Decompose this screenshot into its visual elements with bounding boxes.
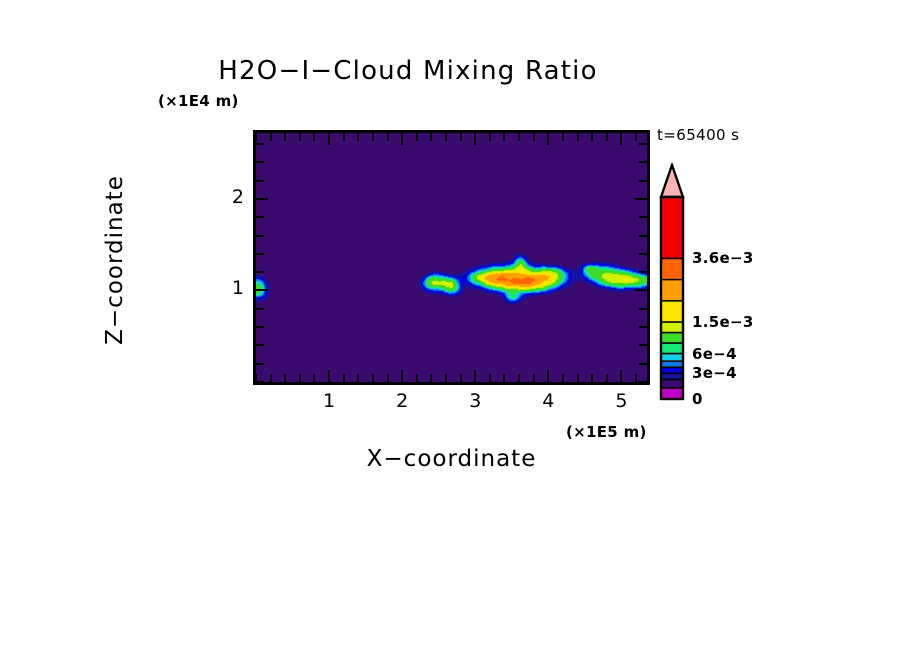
x-minor-tick-top — [533, 133, 535, 141]
figure-root: H2O−I−Cloud Mixing Ratio (×1E4 m) 123451… — [0, 0, 904, 654]
x-minor-tick — [533, 374, 535, 382]
x-minor-tick — [387, 374, 389, 382]
y-minor-tick-right — [639, 143, 647, 145]
y-minor-tick-right — [639, 216, 647, 218]
x-major-tick — [328, 370, 330, 382]
x-minor-tick-top — [255, 133, 257, 141]
colorbar-band — [661, 301, 683, 323]
colorbar-tick-label: 3e−4 — [692, 364, 737, 382]
y-minor-tick — [256, 235, 264, 237]
x-minor-tick-top — [635, 133, 637, 141]
x-tick-label: 5 — [601, 390, 641, 412]
x-minor-tick — [489, 374, 491, 382]
x-minor-tick-top — [445, 133, 447, 141]
colorbar-tick-label: 6e−4 — [692, 345, 737, 363]
y-major-tick-right — [635, 198, 647, 200]
x-major-tick — [620, 370, 622, 382]
x-minor-tick-top — [460, 133, 462, 141]
y-minor-tick — [256, 180, 264, 182]
x-tick-label: 3 — [455, 390, 495, 412]
x-minor-tick — [343, 374, 345, 382]
y-minor-tick-right — [639, 381, 647, 383]
x-minor-tick — [357, 374, 359, 382]
y-major-tick-right — [635, 289, 647, 291]
x-minor-tick-top — [284, 133, 286, 141]
y-minor-tick-right — [639, 235, 647, 237]
x-minor-tick — [503, 374, 505, 382]
x-major-tick-top — [474, 133, 476, 145]
x-minor-tick-top — [503, 133, 505, 141]
colorbar-band — [661, 343, 683, 354]
x-minor-tick — [313, 374, 315, 382]
x-minor-tick-top — [343, 133, 345, 141]
y-minor-tick-right — [639, 271, 647, 273]
y-tick-label: 1 — [214, 277, 244, 299]
colorbar-band — [661, 333, 683, 344]
colorbar-over-arrow — [661, 165, 683, 197]
y-minor-tick-right — [639, 253, 647, 255]
x-minor-tick-top — [299, 133, 301, 141]
x-minor-tick-top — [357, 133, 359, 141]
x-major-tick-top — [328, 133, 330, 145]
x-minor-tick — [445, 374, 447, 382]
y-minor-tick — [256, 363, 264, 365]
y-minor-tick-right — [639, 161, 647, 163]
colorbar — [658, 163, 692, 403]
chart-title-text: H2O−I−Cloud Mixing Ratio — [218, 56, 597, 86]
x-major-tick-top — [401, 133, 403, 145]
colorbar-tick-label: 3.6e−3 — [692, 249, 754, 267]
y-tick-label: 2 — [214, 186, 244, 208]
y-minor-tick — [256, 381, 264, 383]
y-minor-tick — [256, 143, 264, 145]
colorbar-band — [661, 322, 683, 333]
x-minor-tick-top — [577, 133, 579, 141]
y-minor-tick-right — [639, 308, 647, 310]
colorbar-tick-label: 0 — [692, 390, 703, 408]
y-minor-tick-right — [639, 180, 647, 182]
x-minor-tick-top — [313, 133, 315, 141]
x-minor-tick-top — [591, 133, 593, 141]
x-minor-tick — [591, 374, 593, 382]
x-minor-tick-top — [372, 133, 374, 141]
x-axis-title: X−coordinate — [253, 446, 650, 472]
y-minor-tick-right — [639, 363, 647, 365]
x-minor-tick — [372, 374, 374, 382]
x-major-tick — [474, 370, 476, 382]
y-minor-tick — [256, 216, 264, 218]
x-minor-tick — [635, 374, 637, 382]
y-axis-title: Z−coordinate — [102, 132, 128, 388]
x-minor-tick — [416, 374, 418, 382]
colorbar-svg — [658, 163, 692, 403]
colorbar-tick-label: 1.5e−3 — [692, 313, 754, 331]
x-tick-label: 4 — [528, 390, 568, 412]
x-minor-tick — [460, 374, 462, 382]
x-minor-tick-top — [387, 133, 389, 141]
x-unit-label: (×1E5 m) — [566, 423, 647, 441]
page-title: H2O−I−Cloud Mixing Ratio — [0, 56, 904, 86]
y-minor-tick — [256, 271, 264, 273]
x-minor-tick — [606, 374, 608, 382]
y-minor-tick-right — [639, 344, 647, 346]
x-major-tick — [547, 370, 549, 382]
y-minor-tick-right — [639, 326, 647, 328]
x-major-tick — [401, 370, 403, 382]
y-unit-label: (×1E4 m) — [158, 92, 239, 110]
x-minor-tick — [518, 374, 520, 382]
y-minor-tick — [256, 344, 264, 346]
x-tick-label: 2 — [382, 390, 422, 412]
x-minor-tick — [577, 374, 579, 382]
y-minor-tick — [256, 161, 264, 163]
y-minor-tick — [256, 253, 264, 255]
x-minor-tick — [562, 374, 564, 382]
x-minor-tick — [430, 374, 432, 382]
y-minor-tick — [256, 308, 264, 310]
x-minor-tick — [270, 374, 272, 382]
x-minor-tick-top — [416, 133, 418, 141]
y-minor-tick — [256, 326, 264, 328]
x-minor-tick-top — [606, 133, 608, 141]
colorbar-band — [661, 280, 683, 302]
x-major-tick-top — [547, 133, 549, 145]
x-minor-tick-top — [562, 133, 564, 141]
plot-area — [253, 130, 650, 385]
time-annotation: t=65400 s — [657, 126, 739, 144]
colorbar-band — [661, 258, 683, 280]
y-major-tick — [256, 289, 268, 291]
x-minor-tick-top — [489, 133, 491, 141]
x-minor-tick — [299, 374, 301, 382]
x-minor-tick-top — [430, 133, 432, 141]
x-major-tick-top — [620, 133, 622, 145]
contour-field-canvas — [256, 133, 647, 382]
x-minor-tick-top — [518, 133, 520, 141]
colorbar-band — [661, 197, 683, 259]
x-minor-tick-top — [270, 133, 272, 141]
x-tick-label: 1 — [309, 390, 349, 412]
x-minor-tick — [284, 374, 286, 382]
y-major-tick — [256, 198, 268, 200]
